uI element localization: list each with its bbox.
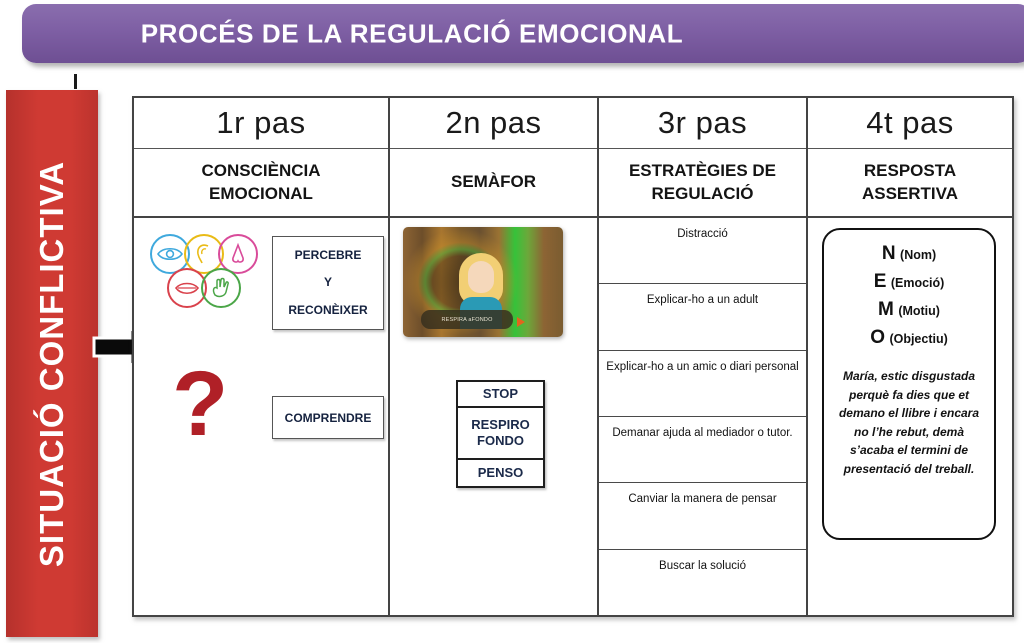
title-banner: PROCÉS DE LA REGULACIÓ EMOCIONAL	[22, 4, 1024, 63]
process-table: 1r pas CONSCIÈNCIA EMOCIONAL	[132, 96, 1014, 617]
step-3-body: Distracció Explicar-ho a un adult Explic…	[599, 218, 806, 615]
nemo-item: E (Emoció)	[834, 272, 984, 291]
nemo-word: (Objectiu)	[889, 332, 947, 346]
nemo-item: O (Objectiu)	[834, 328, 984, 347]
semafor-respiro-line1: RESPIRO	[471, 417, 530, 432]
step-3-heading: 3r pas	[599, 98, 806, 149]
step-4-title-line2: ASSERTIVA	[862, 184, 958, 203]
strategy-row: Distracció	[599, 218, 806, 284]
video-marker-icon	[517, 317, 525, 327]
step-3-title-line2: REGULACIÓ	[651, 184, 753, 203]
step-1-body: ? PERCEBRE Y RECONÈIXER COMPRENDRE	[134, 218, 388, 615]
five-senses-icon-group	[150, 234, 258, 316]
semafor-respiro: RESPIRO FONDO	[458, 408, 543, 460]
nemo-letter: M	[878, 299, 894, 320]
nemo-letter: O	[870, 327, 885, 348]
step-4-heading: 4t pas	[808, 98, 1012, 149]
percebre-line3: RECONÈIXER	[288, 297, 367, 325]
video-caption: RESPIRA aFONDO	[421, 310, 513, 329]
semafor-respiro-line2: FONDO	[477, 433, 524, 448]
tick-mark	[74, 74, 77, 89]
strategy-row: Explicar-ho a un amic o diari personal	[599, 351, 806, 417]
nemo-box: N (Nom) E (Emoció) M (Motiu) O (Objectiu…	[822, 228, 996, 540]
semafor-stop: STOP	[458, 382, 543, 408]
step-3-title-line1: ESTRATÈGIES DE	[629, 161, 776, 180]
strategy-row: Demanar ajuda al mediador o tutor.	[599, 417, 806, 483]
step-1-title-line1: CONSCIÈNCIA	[201, 161, 320, 180]
step-3-title: ESTRATÈGIES DE REGULACIÓ	[599, 149, 806, 218]
nemo-word: (Nom)	[900, 248, 936, 262]
strategy-list: Distracció Explicar-ho a un adult Explic…	[599, 218, 806, 615]
comprendre-box: COMPRENDRE	[272, 396, 384, 439]
step-2-heading: 2n pas	[390, 98, 597, 149]
strategy-row: Explicar-ho a un adult	[599, 284, 806, 350]
situation-conflictiva-label: SITUACIÓ CONFLICTIVA	[33, 160, 71, 566]
hand-icon	[201, 268, 241, 308]
column-step-2: 2n pas SEMÀFOR RESPIRA aFONDO STOP RESPI…	[390, 98, 599, 615]
percebre-line1: PERCEBRE	[295, 242, 362, 270]
percebre-reconeixer-box: PERCEBRE Y RECONÈIXER	[272, 236, 384, 330]
percebre-line2: Y	[324, 269, 332, 297]
page-title: PROCÉS DE LA REGULACIÓ EMOCIONAL	[22, 18, 802, 49]
nemo-example-text: María, estic disgustada perquè fa dies q…	[834, 367, 984, 479]
nemo-letter: N	[882, 243, 896, 264]
strategy-row: Buscar la solució	[599, 550, 806, 615]
column-step-1: 1r pas CONSCIÈNCIA EMOCIONAL	[134, 98, 390, 615]
step-4-title: RESPOSTA ASSERTIVA	[808, 149, 1012, 218]
nemo-word: (Emoció)	[891, 276, 944, 290]
video-thumbnail[interactable]: RESPIRA aFONDO	[403, 227, 563, 337]
question-mark-icon: ?	[172, 358, 228, 450]
situation-conflictiva-bar: SITUACIÓ CONFLICTIVA	[6, 90, 98, 637]
nemo-word: (Motiu)	[898, 304, 940, 318]
step-2-title: SEMÀFOR	[390, 149, 597, 218]
column-step-3: 3r pas ESTRATÈGIES DE REGULACIÓ Distracc…	[599, 98, 808, 615]
character-face	[468, 261, 494, 293]
nemo-item: N (Nom)	[834, 244, 984, 263]
step-4-body: N (Nom) E (Emoció) M (Motiu) O (Objectiu…	[808, 218, 1012, 615]
step-1-heading: 1r pas	[134, 98, 388, 149]
semafor-penso: PENSO	[458, 460, 543, 486]
column-step-4: 4t pas RESPOSTA ASSERTIVA N (Nom) E (Emo…	[808, 98, 1012, 615]
nemo-letter: E	[874, 271, 887, 292]
comprendre-label: COMPRENDRE	[285, 411, 372, 425]
step-1-title: CONSCIÈNCIA EMOCIONAL	[134, 149, 388, 218]
step-4-title-line1: RESPOSTA	[864, 161, 956, 180]
nemo-item: M (Motiu)	[834, 300, 984, 319]
step-1-title-line2: EMOCIONAL	[209, 184, 313, 203]
strategy-row: Canviar la manera de pensar	[599, 483, 806, 549]
semafor-box: STOP RESPIRO FONDO PENSO	[456, 380, 545, 488]
step-2-body: RESPIRA aFONDO STOP RESPIRO FONDO PENSO	[390, 218, 597, 615]
